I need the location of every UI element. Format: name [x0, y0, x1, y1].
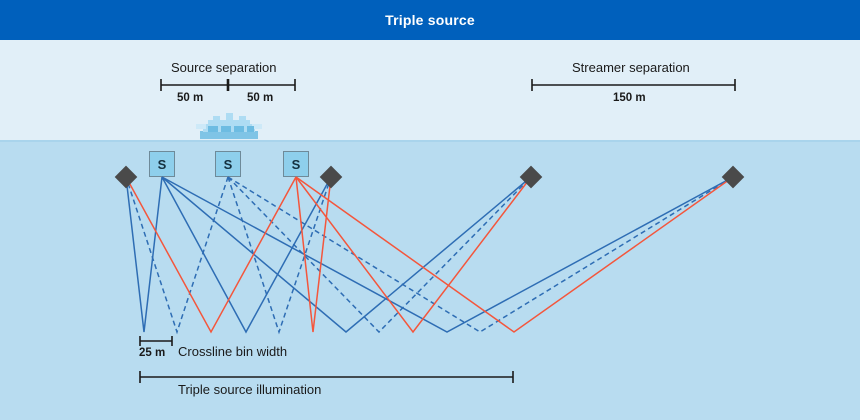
ray-path: [228, 177, 531, 332]
illumination-bar: [140, 371, 513, 383]
streamer-diamond-1[interactable]: [115, 166, 138, 189]
streamer-separation-bar: [532, 79, 735, 91]
ray-path: [126, 177, 296, 332]
diagram-svg: [0, 0, 860, 420]
streamer-diamond-3[interactable]: [520, 166, 543, 189]
streamer-diamond-2[interactable]: [320, 166, 343, 189]
ray-path: [296, 177, 531, 332]
streamer-diamond-4[interactable]: [722, 166, 745, 189]
diagram-root: Triple source Source separation 50 m 50 …: [0, 0, 860, 420]
vessel-icon: [196, 113, 262, 139]
ray-path: [162, 177, 531, 332]
ray-path: [126, 177, 162, 332]
source-separation-bar: [161, 79, 295, 91]
ray-path: [296, 177, 733, 332]
ray-path: [162, 177, 733, 332]
ray-paths-group: [126, 177, 733, 332]
streamer-markers-group: [115, 166, 745, 189]
crossline-bin-bar: [140, 336, 172, 346]
